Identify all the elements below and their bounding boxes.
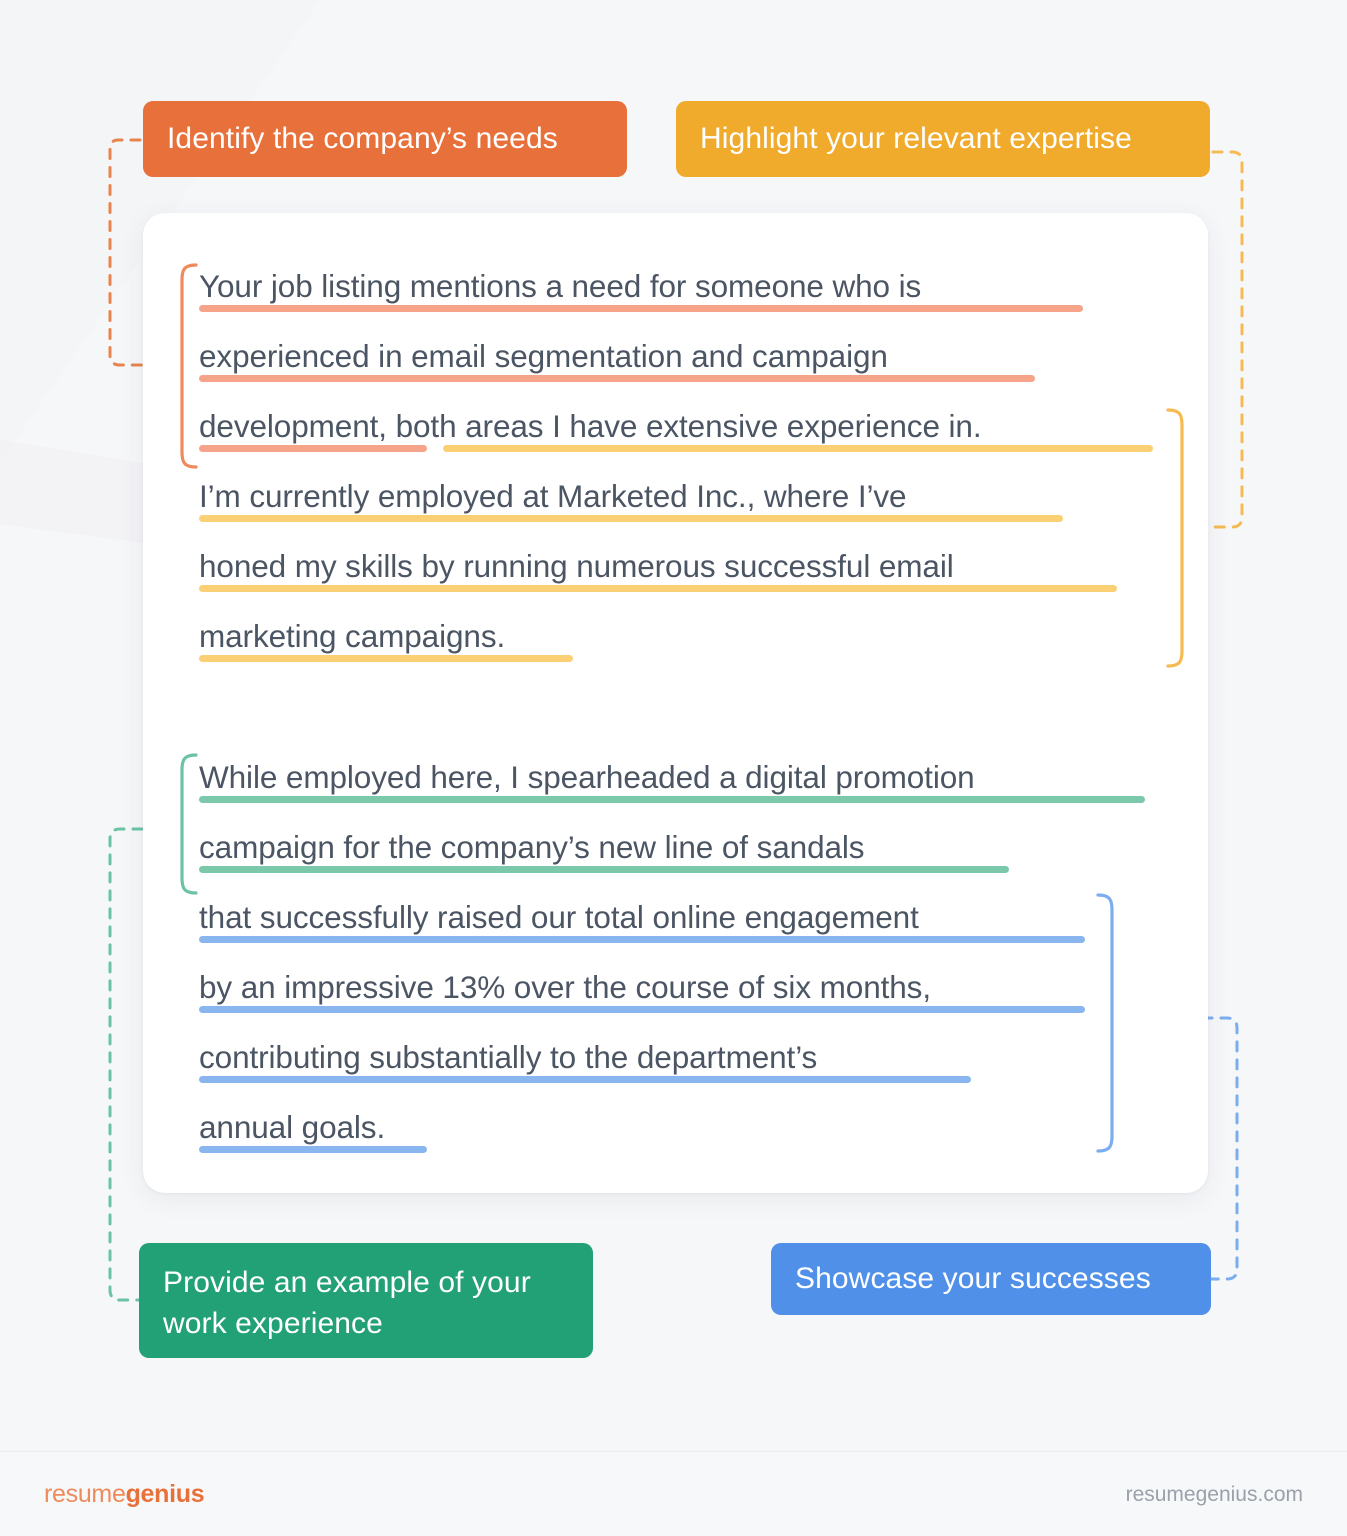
underline-blue — [199, 1146, 427, 1153]
text-line-content: marketing campaigns. — [199, 618, 505, 654]
text-line: that successfully raised our total onlin… — [199, 882, 1189, 952]
text-line: annual goals. — [199, 1092, 1189, 1162]
text-line: honed my skills by running numerous succ… — [199, 531, 1189, 601]
resumegenius-logo[interactable]: resumegenius — [44, 1480, 204, 1509]
underline-salmon — [199, 445, 427, 452]
text-line: I’m currently employed at Marketed Inc.,… — [199, 461, 1189, 531]
logo-text-bold: genius — [126, 1480, 205, 1508]
underline-blue — [199, 1076, 971, 1083]
label-showcase-successes[interactable]: Showcase your successes — [771, 1243, 1211, 1315]
website-url[interactable]: resumegenius.com — [1126, 1483, 1303, 1507]
text-line-content: I’m currently employed at Marketed Inc.,… — [199, 478, 906, 514]
text-line: While employed here, I spearheaded a dig… — [199, 742, 1189, 812]
text-line: development, both areas I have extensive… — [199, 391, 1189, 461]
text-line-content: by an impressive 13% over the course of … — [199, 969, 931, 1005]
infographic-canvas: Identify the company’s needs Highlight y… — [0, 0, 1347, 1536]
underline-green — [199, 866, 1009, 873]
text-line-content: annual goals. — [199, 1109, 385, 1145]
text-line-content: experienced in email segmentation and ca… — [199, 338, 888, 374]
underline-green — [199, 796, 1145, 803]
text-line-content: development, both areas I have extensive… — [199, 408, 982, 444]
underline-blue — [199, 1006, 1085, 1013]
text-line-content: campaign for the company’s new line of s… — [199, 829, 864, 865]
paragraph-two: While employed here, I spearheaded a dig… — [199, 742, 1189, 1162]
underline-amber — [443, 445, 1153, 452]
logo-text-light: resume — [44, 1480, 126, 1508]
bracket-orange — [176, 262, 198, 470]
paragraph-one: Your job listing mentions a need for som… — [199, 251, 1189, 671]
text-line-content: While employed here, I spearheaded a dig… — [199, 759, 975, 795]
label-highlight-expertise[interactable]: Highlight your relevant expertise — [676, 101, 1210, 177]
underline-amber — [199, 585, 1117, 592]
underline-salmon — [199, 375, 1035, 382]
text-line-content: Your job listing mentions a need for som… — [199, 268, 921, 304]
underline-blue — [199, 936, 1085, 943]
text-line: campaign for the company’s new line of s… — [199, 812, 1189, 882]
footer-bar: resumegenius resumegenius.com — [0, 1451, 1347, 1536]
bracket-green — [176, 752, 198, 896]
label-provide-example[interactable]: Provide an example of your work experien… — [139, 1243, 593, 1358]
text-line-content: contributing substantially to the depart… — [199, 1039, 817, 1075]
underline-salmon — [199, 305, 1083, 312]
label-identify-company-needs[interactable]: Identify the company’s needs — [143, 101, 627, 177]
text-line: Your job listing mentions a need for som… — [199, 251, 1189, 321]
underline-amber — [199, 655, 573, 662]
text-line: marketing campaigns. — [199, 601, 1189, 671]
text-line-content: that successfully raised our total onlin… — [199, 899, 919, 935]
underline-amber — [199, 515, 1063, 522]
text-line: by an impressive 13% over the course of … — [199, 952, 1189, 1022]
text-line: experienced in email segmentation and ca… — [199, 321, 1189, 391]
text-line-content: honed my skills by running numerous succ… — [199, 548, 954, 584]
text-line: contributing substantially to the depart… — [199, 1022, 1189, 1092]
